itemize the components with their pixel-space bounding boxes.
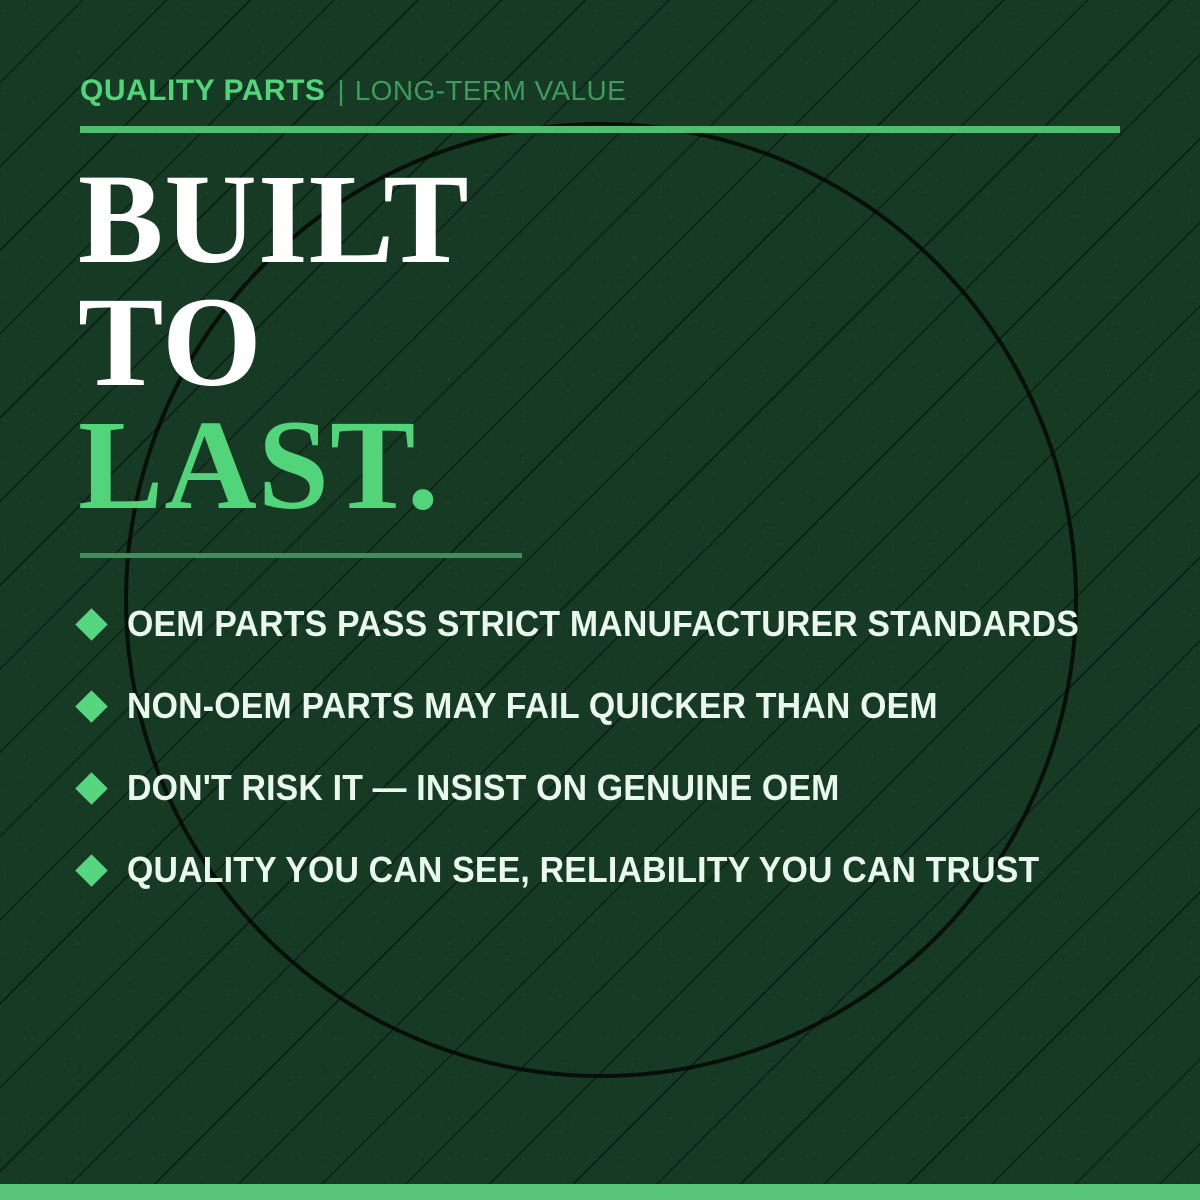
- list-item: OEM PARTS PASS STRICT MANUFACTURER STAND…: [80, 583, 1150, 665]
- headline-line-1: BUILT: [78, 158, 470, 281]
- headline-divider-rule: [80, 553, 522, 558]
- list-item-label: NON-OEM PARTS MAY FAIL QUICKER THAN OEM: [127, 685, 938, 727]
- list-item-label: DON'T RISK IT — INSIST ON GENUINE OEM: [127, 767, 840, 809]
- list-item: QUALITY YOU CAN SEE, RELIABILITY YOU CAN…: [80, 829, 1150, 911]
- list-item-label: QUALITY YOU CAN SEE, RELIABILITY YOU CAN…: [127, 849, 1039, 891]
- list-item-label: OEM PARTS PASS STRICT MANUFACTURER STAND…: [127, 603, 1079, 645]
- diamond-bullet-icon: [75, 690, 108, 723]
- list-item: NON-OEM PARTS MAY FAIL QUICKER THAN OEM: [80, 665, 1150, 747]
- page-title: BUILT TO LAST.: [78, 158, 470, 527]
- headline-line-3: LAST.: [78, 404, 470, 527]
- top-accent-rule: [80, 126, 1120, 133]
- diamond-bullet-icon: [75, 608, 108, 641]
- diamond-bullet-icon: [75, 772, 108, 805]
- kicker-strong-text: QUALITY PARTS: [80, 74, 325, 108]
- kicker: QUALITY PARTS | LONG-TERM VALUE: [80, 74, 626, 108]
- kicker-light-text: LONG-TERM VALUE: [355, 75, 627, 107]
- list-item: DON'T RISK IT — INSIST ON GENUINE OEM: [80, 747, 1150, 829]
- bottom-accent-strip: [0, 1184, 1200, 1200]
- benefit-list: OEM PARTS PASS STRICT MANUFACTURER STAND…: [80, 583, 1150, 911]
- kicker-separator: |: [337, 75, 344, 107]
- headline-line-2: TO: [78, 281, 470, 404]
- diamond-bullet-icon: [75, 854, 108, 887]
- poster-canvas: QUALITY PARTS | LONG-TERM VALUE BUILT TO…: [0, 0, 1200, 1200]
